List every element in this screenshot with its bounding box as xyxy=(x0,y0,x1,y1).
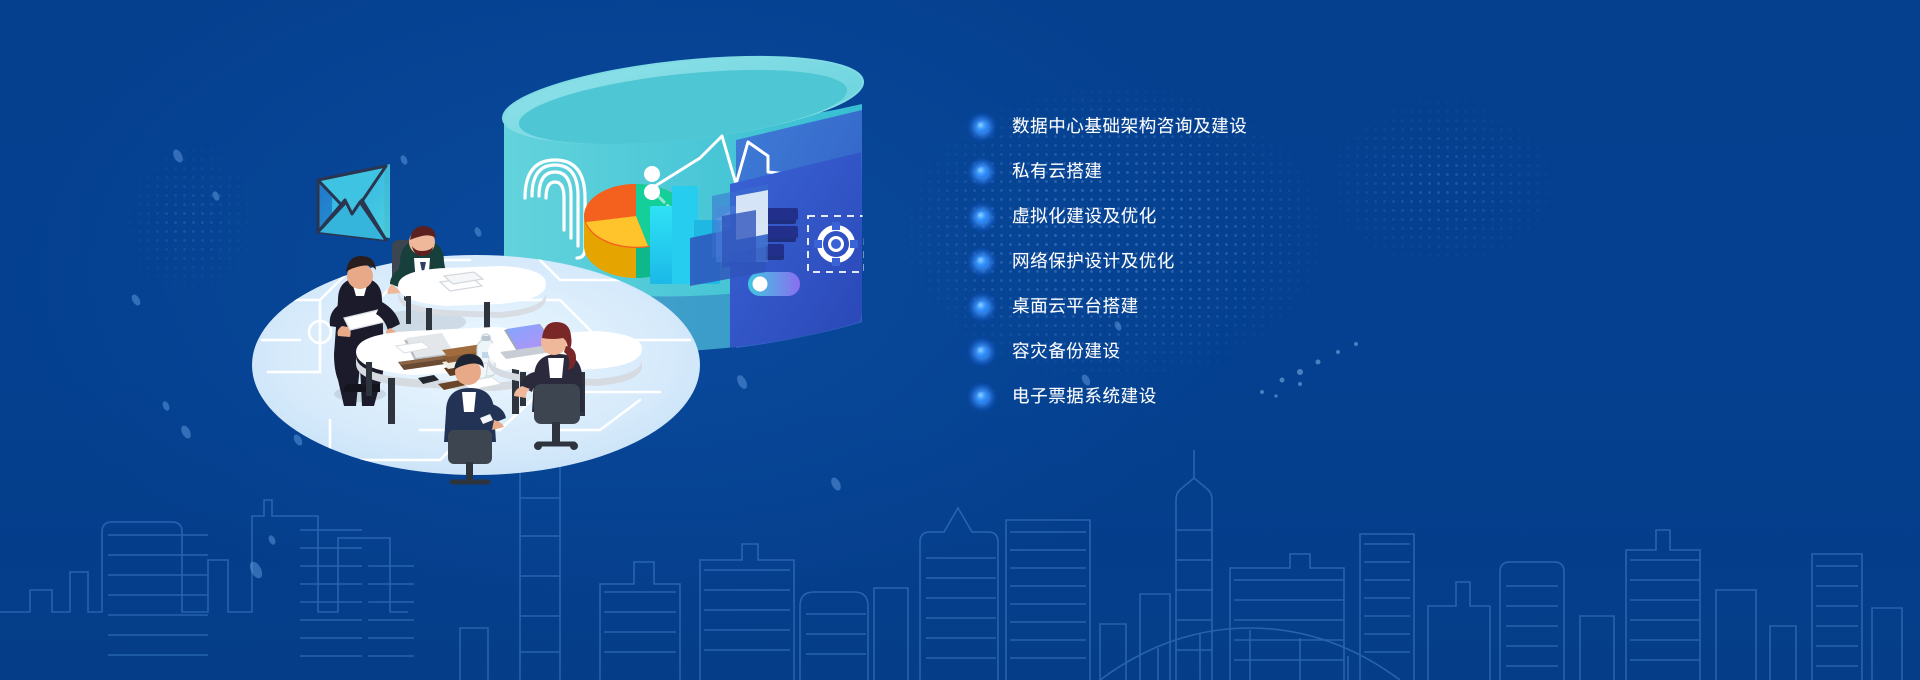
service-label: 桌面云平台搭建 xyxy=(1012,298,1139,316)
data-center-meeting-illustration xyxy=(0,0,1920,680)
service-label: 私有云搭建 xyxy=(1012,163,1103,181)
service-item-6[interactable]: 电子票据系统建设 xyxy=(962,374,1482,419)
service-label: 容灾备份建设 xyxy=(1012,343,1121,361)
table-leg xyxy=(366,362,372,396)
toggle-switch-icon xyxy=(748,272,800,296)
glow-dot-icon xyxy=(965,245,999,279)
service-label: 电子票据系统建设 xyxy=(1012,388,1157,406)
table-leg xyxy=(388,378,395,424)
banner-stage: 数据中心基础架构咨询及建设 私有云搭建 虚拟化建设及优化 网络保护设计及优化 桌… xyxy=(0,0,1920,680)
chart-node xyxy=(644,166,660,182)
glow-dot-icon xyxy=(965,155,999,189)
service-item-5[interactable]: 容灾备份建设 xyxy=(962,329,1482,374)
service-item-0[interactable]: 数据中心基础架构咨询及建设 xyxy=(962,104,1482,149)
service-item-4[interactable]: 桌面云平台搭建 xyxy=(962,284,1482,329)
service-item-3[interactable]: 网络保护设计及优化 xyxy=(962,239,1482,284)
service-item-1[interactable]: 私有云搭建 xyxy=(962,149,1482,194)
service-list: 数据中心基础架构咨询及建设 私有云搭建 虚拟化建设及优化 网络保护设计及优化 桌… xyxy=(962,104,1482,419)
chart-node xyxy=(644,184,660,200)
service-label: 虚拟化建设及优化 xyxy=(1012,208,1157,226)
glow-dot-icon xyxy=(965,335,999,369)
service-item-2[interactable]: 虚拟化建设及优化 xyxy=(962,194,1482,239)
glow-dot-icon xyxy=(965,110,999,144)
glow-dot-icon xyxy=(965,200,999,234)
service-label: 网络保护设计及优化 xyxy=(1012,253,1175,271)
glow-dot-icon xyxy=(965,380,999,414)
glow-dot-icon xyxy=(965,290,999,324)
envelope-icon xyxy=(318,164,390,240)
service-label: 数据中心基础架构咨询及建设 xyxy=(1012,118,1247,136)
